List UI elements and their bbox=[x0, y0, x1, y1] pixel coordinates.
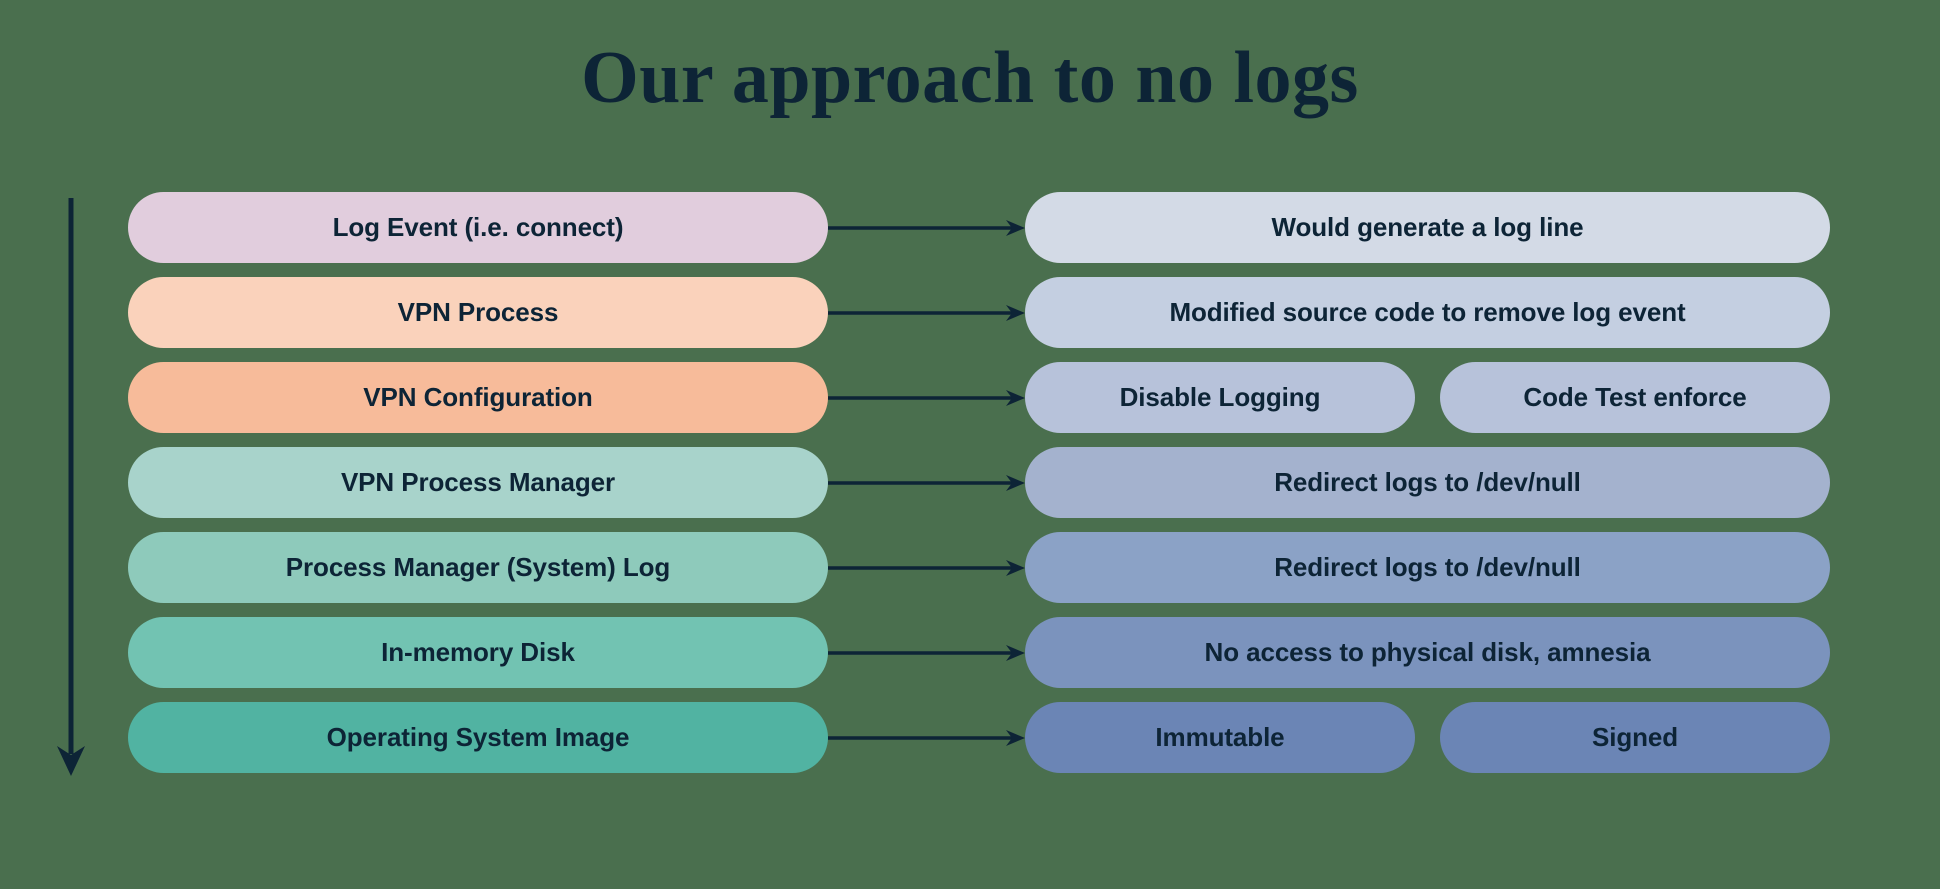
diagram-row: Operating System ImageImmutableSigned bbox=[0, 702, 1940, 787]
arrow-right-icon bbox=[828, 218, 1026, 238]
right-mitigation-pill[interactable]: Modified source code to remove log event bbox=[1025, 277, 1830, 348]
diagram-row: In-memory DiskNo access to physical disk… bbox=[0, 617, 1940, 702]
left-stage-pill[interactable]: Process Manager (System) Log bbox=[128, 532, 828, 603]
right-mitigation-pill[interactable]: Redirect logs to /dev/null bbox=[1025, 447, 1830, 518]
right-mitigation-pill[interactable]: Code Test enforce bbox=[1440, 362, 1830, 433]
right-mitigation-pill[interactable]: Would generate a log line bbox=[1025, 192, 1830, 263]
arrow-right-icon bbox=[828, 388, 1026, 408]
right-mitigation-pill[interactable]: Signed bbox=[1440, 702, 1830, 773]
page-title: Our approach to no logs bbox=[0, 38, 1940, 119]
left-stage-pill[interactable]: Log Event (i.e. connect) bbox=[128, 192, 828, 263]
diagram-rows: Log Event (i.e. connect)Would generate a… bbox=[0, 192, 1940, 787]
diagram-row: VPN ProcessModified source code to remov… bbox=[0, 277, 1940, 362]
arrow-right-icon bbox=[828, 303, 1026, 323]
diagram-row: VPN Process ManagerRedirect logs to /dev… bbox=[0, 447, 1940, 532]
left-stage-pill[interactable]: VPN Process Manager bbox=[128, 447, 828, 518]
right-mitigation-pill[interactable]: Immutable bbox=[1025, 702, 1415, 773]
diagram-row: Log Event (i.e. connect)Would generate a… bbox=[0, 192, 1940, 277]
arrow-right-icon bbox=[828, 728, 1026, 748]
left-stage-pill[interactable]: In-memory Disk bbox=[128, 617, 828, 688]
arrow-right-icon bbox=[828, 473, 1026, 493]
left-stage-pill[interactable]: VPN Configuration bbox=[128, 362, 828, 433]
left-stage-pill[interactable]: Operating System Image bbox=[128, 702, 828, 773]
arrow-right-icon bbox=[828, 643, 1026, 663]
left-stage-pill[interactable]: VPN Process bbox=[128, 277, 828, 348]
right-mitigation-pill[interactable]: No access to physical disk, amnesia bbox=[1025, 617, 1830, 688]
right-mitigation-pill[interactable]: Disable Logging bbox=[1025, 362, 1415, 433]
no-logs-diagram: Our approach to no logs Log Event (i.e. … bbox=[0, 0, 1940, 889]
diagram-row: VPN ConfigurationDisable LoggingCode Tes… bbox=[0, 362, 1940, 447]
arrow-right-icon bbox=[828, 558, 1026, 578]
right-mitigation-pill[interactable]: Redirect logs to /dev/null bbox=[1025, 532, 1830, 603]
diagram-row: Process Manager (System) LogRedirect log… bbox=[0, 532, 1940, 617]
